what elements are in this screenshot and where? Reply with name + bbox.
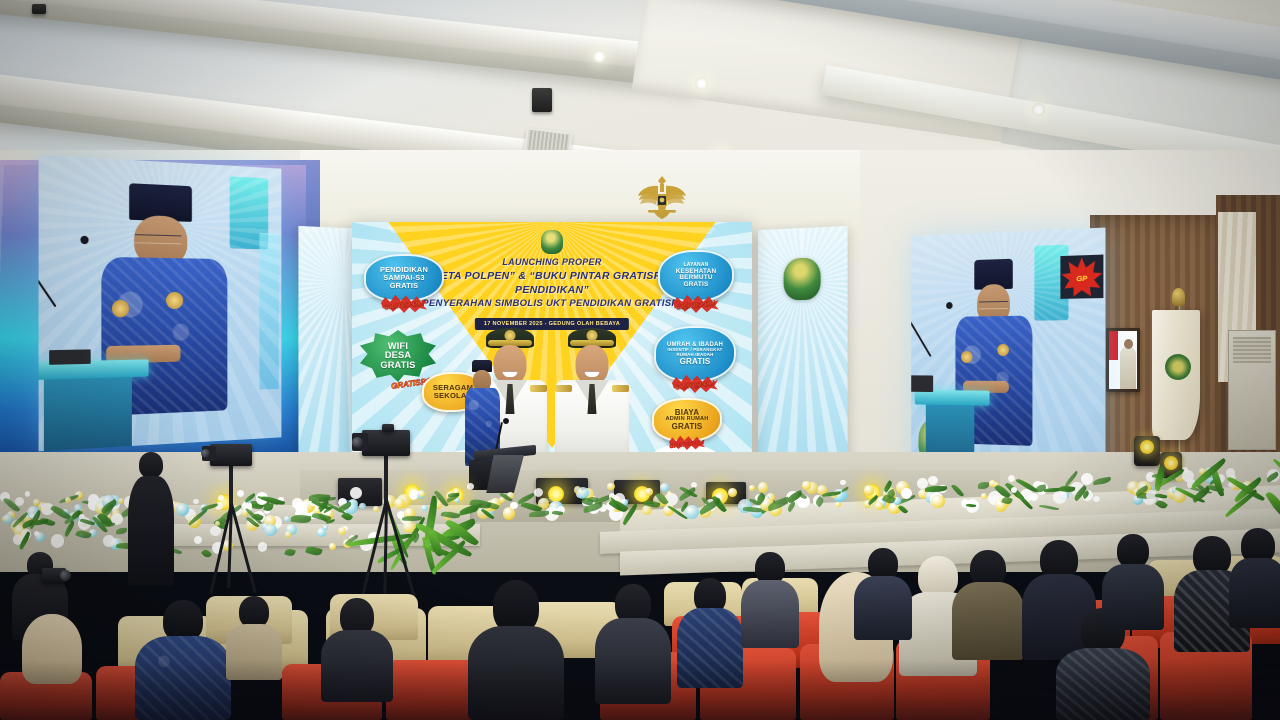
backdrop-title-line3: & PENYERAHAN SIMBOLIS UKT PENDIDIKAN GRA…: [392, 298, 712, 311]
foliage-leaf: [1039, 504, 1060, 512]
flower: [1030, 493, 1038, 501]
microphone-icon: [81, 236, 89, 244]
person-shoulders: [1102, 564, 1164, 630]
ceiling-spotlight: [1032, 103, 1045, 116]
flower: [3, 514, 13, 524]
promo-badge-admin: BIAYA ADMIN RUMAH GRATIS GRATISPOL!: [652, 398, 722, 442]
flower: [323, 525, 328, 530]
speaker-glasses-icon: [135, 234, 181, 244]
foliage-leaf: [1155, 492, 1167, 499]
flower: [645, 488, 653, 496]
camera-lens: [352, 437, 363, 448]
kaltim-ceremonial-flag: [1152, 310, 1200, 440]
audience-member: [742, 552, 798, 648]
audience-member: [600, 584, 666, 704]
person-batik-shirt: [677, 608, 743, 688]
tripod-leg: [230, 504, 256, 594]
flower: [329, 543, 336, 550]
person-shoulders: [321, 630, 393, 702]
foliage-leaf: [448, 492, 459, 496]
official-portrait: [1106, 328, 1140, 392]
flower: [285, 531, 292, 538]
foliage-leaf: [1155, 499, 1168, 511]
ceiling-spotlight: [593, 50, 606, 63]
flower: [29, 513, 34, 518]
foliage-leaf: [951, 483, 965, 498]
svg-text:GP: GP: [1076, 273, 1087, 283]
event-hall-photo: GP LAUNCHING PROPER “PETA POLPEN” & “BUK…: [0, 0, 1280, 720]
crew-head: [139, 452, 163, 478]
ceiling-speaker: [32, 4, 46, 14]
audience-member: [16, 614, 88, 720]
camera-tripod-left: [196, 440, 266, 580]
official-hat-emblem-icon: [505, 330, 516, 341]
flower: [931, 495, 945, 509]
tripod-leg: [383, 500, 387, 594]
person-shoulders: [226, 624, 282, 680]
audience-member: [226, 596, 282, 686]
flower: [33, 499, 39, 505]
flower: [284, 516, 290, 522]
audience-member: [324, 598, 390, 704]
flower: [503, 507, 515, 519]
audience-member: [954, 550, 1022, 660]
flower: [510, 502, 517, 509]
kaltim-provincial-emblem-icon: [784, 257, 821, 300]
laptop-icon: [911, 375, 933, 392]
foliage-leaf: [101, 522, 115, 527]
flower: [25, 491, 30, 496]
badge-line: GRATIS: [680, 358, 711, 366]
kaltim-provincial-emblem-icon: [541, 230, 563, 254]
crew-body: [128, 476, 174, 586]
tripod-column: [384, 452, 388, 506]
person-shoulders: [595, 618, 671, 704]
microphone-icon: [503, 418, 509, 424]
right-projection-screen: GP: [911, 228, 1105, 485]
person-shoulders: [741, 580, 799, 648]
microphone-stem: [911, 315, 931, 357]
camera-top-handle: [382, 424, 394, 432]
badge-line: GRATIS: [390, 282, 419, 290]
speaker-uniform-badge: [997, 344, 1009, 356]
flower: [864, 485, 875, 496]
palm-frond: [1265, 490, 1280, 520]
gratispol-starburst-icon: GP: [1060, 255, 1103, 299]
flower: [1093, 496, 1100, 503]
flower: [840, 480, 845, 485]
flower: [981, 493, 987, 499]
flag-pole-finial: [1172, 288, 1185, 306]
person-plaid-shirt: [1056, 648, 1150, 720]
speaker-uniform-badge: [112, 300, 130, 317]
audience-member: [680, 578, 740, 688]
camera-lens: [201, 449, 210, 458]
audience-member: [1230, 528, 1280, 628]
backdrop-side-panel-right: [758, 226, 848, 480]
audience-member: [476, 580, 556, 720]
flower: [728, 488, 737, 497]
portrait-figure: [1120, 347, 1136, 392]
badge-line: GRATIS: [684, 282, 709, 289]
foliage-leaf: [1092, 477, 1111, 486]
camera-tripod-center: [352, 424, 428, 584]
person-batik-shirt: [135, 636, 231, 720]
ceiling-speaker: [532, 88, 552, 112]
microphone-icon: [946, 302, 953, 309]
video-camera: [362, 430, 410, 456]
person-shoulders: [468, 626, 564, 720]
flower: [467, 483, 474, 490]
promo-badge-umrah: UMRAH & IBADAH INSENTIF / PERANGKAT RUMA…: [654, 326, 736, 382]
flower: [34, 531, 39, 536]
flower: [758, 482, 768, 492]
badge-line: GRATIS: [380, 361, 415, 371]
tripod-leg: [385, 500, 416, 601]
flower: [901, 488, 912, 499]
audience-member: [856, 548, 910, 640]
indonesian-flag-icon: [1109, 331, 1118, 389]
left-projection-screen: [39, 155, 282, 452]
official-head: [576, 345, 609, 385]
promo-badge-kesehatan: LAYANAN KESEHATAN BERMUTU GRATIS GRATISP…: [658, 250, 734, 302]
screen-speaker-figure: [39, 155, 282, 452]
promo-badge-pendidikan: PENDIDIKAN SAMPAI-S3 GRATIS GRATISPOL!: [364, 254, 444, 302]
lectern-body: [44, 377, 132, 451]
flower: [534, 488, 543, 497]
official-epaulette: [612, 385, 629, 392]
official-epaulette: [555, 385, 572, 392]
wall-air-conditioner: [1228, 330, 1276, 450]
person-shoulders: [1229, 558, 1280, 628]
flower: [749, 485, 755, 491]
portrait-figure-head: [1124, 339, 1133, 349]
flower: [802, 481, 810, 489]
official-photo-vice-governor: [552, 328, 632, 454]
audience-member: [148, 600, 218, 720]
speaker-uniform-badge: [166, 292, 183, 309]
flower: [338, 527, 346, 535]
flower: [51, 534, 64, 547]
flower: [1008, 475, 1015, 482]
flower: [607, 483, 614, 490]
audience-member: [1104, 534, 1162, 630]
speaker-glasses-icon: [979, 301, 1008, 309]
ceiling-spotlight: [695, 77, 708, 90]
person-shoulders: [854, 576, 912, 640]
flower: [928, 476, 937, 485]
official-hat-emblem-icon: [587, 330, 598, 341]
foliage-leaf: [898, 504, 909, 515]
flower: [875, 502, 883, 510]
stage-flower-arrangement: [0, 460, 1280, 540]
badge-line: GRATIS: [672, 423, 703, 431]
flower: [835, 502, 841, 508]
foliage-leaf: [978, 482, 989, 490]
camera-lens: [60, 570, 71, 581]
microphone-stem: [39, 251, 57, 307]
person-shoulders: [952, 582, 1024, 660]
laptop-icon: [49, 349, 91, 365]
flower: [1053, 490, 1067, 504]
garuda-pancasila-icon: [636, 172, 688, 220]
person-head: [1117, 534, 1149, 568]
video-camera: [210, 444, 252, 466]
flower: [65, 497, 71, 503]
flower: [103, 535, 115, 547]
hijab: [22, 614, 82, 684]
foliage-leaf: [529, 510, 549, 516]
